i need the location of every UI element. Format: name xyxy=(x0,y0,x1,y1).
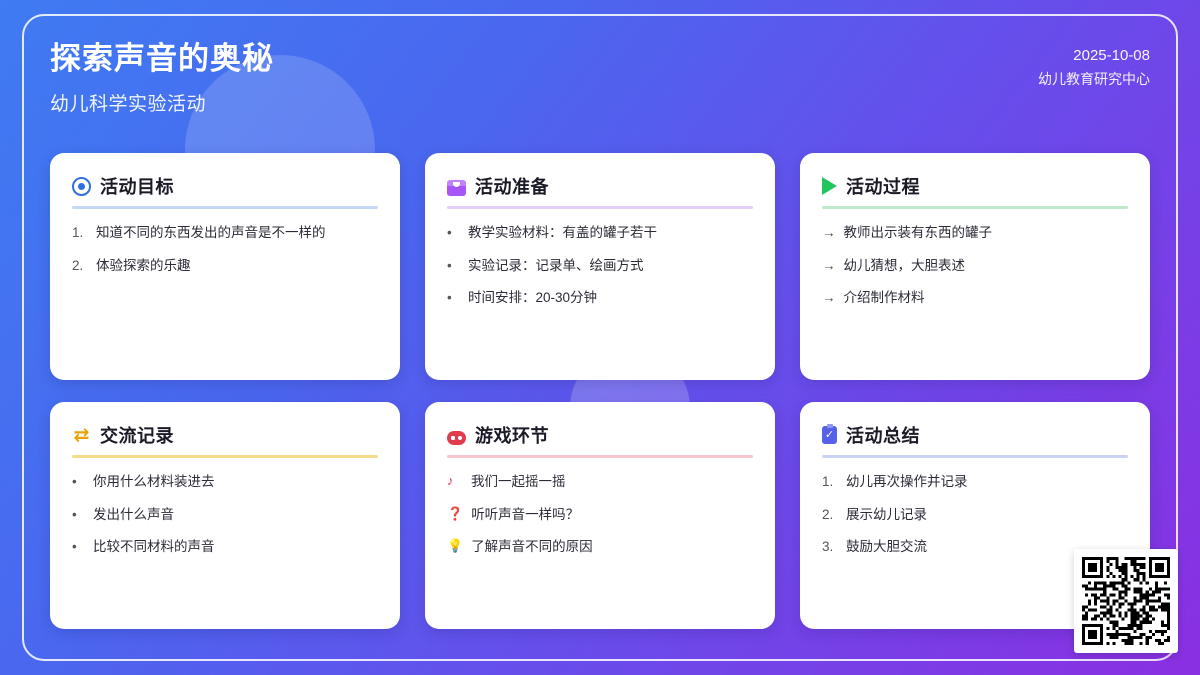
card-accent-rule xyxy=(72,206,378,209)
list-item: → 介绍制作材料 xyxy=(822,288,1128,308)
list-marker: → xyxy=(822,223,836,243)
list-marker: • xyxy=(72,505,85,525)
list-marker: → xyxy=(822,288,836,308)
card-accent-rule xyxy=(447,206,753,209)
card-body: ♪ 我们一起摇一摇 ❓ 听听声音一样吗？ 💡 了解声音不同的原因 xyxy=(447,472,753,557)
header-meta: 2025-10-08 幼儿教育研究中心 xyxy=(1038,44,1150,90)
exchange-icon: ⇄ xyxy=(72,426,91,445)
card-title: 活动目标 xyxy=(100,173,174,199)
list-item-text: 我们一起摇一摇 xyxy=(471,472,566,492)
card-accent-rule xyxy=(822,206,1128,209)
list-item-text: 了解声音不同的原因 xyxy=(471,537,593,557)
list-item-text: 幼儿猜想，大胆表述 xyxy=(844,256,966,276)
card-game-section[interactable]: 游戏环节 ♪ 我们一起摇一摇 ❓ 听听声音一样吗？ 💡 了解声音不同的原因 xyxy=(425,402,775,629)
list-item: • 实验记录：记录单、绘画方式 xyxy=(447,256,753,276)
gamepad-icon xyxy=(447,431,466,445)
list-item: 1. 知道不同的东西发出的声音是不一样的 xyxy=(72,223,378,243)
list-marker: 1. xyxy=(822,472,838,492)
list-item: • 时间安排：20-30分钟 xyxy=(447,288,753,308)
list-marker: 2. xyxy=(822,505,838,525)
list-item: ❓ 听听声音一样吗？ xyxy=(447,505,753,525)
list-item-text: 教师出示装有东西的罐子 xyxy=(844,223,993,243)
card-accent-rule xyxy=(447,455,753,458)
card-body: • 教学实验材料：有盖的罐子若干 • 实验记录：记录单、绘画方式 • 时间安排：… xyxy=(447,223,753,308)
list-item: 💡 了解声音不同的原因 xyxy=(447,537,753,557)
list-item-text: 你用什么材料装进去 xyxy=(93,472,215,492)
card-title: 游戏环节 xyxy=(475,422,549,448)
list-item: ♪ 我们一起摇一摇 xyxy=(447,472,753,492)
card-accent-rule xyxy=(822,455,1128,458)
list-marker: • xyxy=(72,472,85,492)
list-marker: 1. xyxy=(72,223,88,243)
card-activity-goals[interactable]: 活动目标 1. 知道不同的东西发出的声音是不一样的 2. 体验探索的乐趣 xyxy=(50,153,400,380)
list-item-text: 听听声音一样吗？ xyxy=(471,505,579,525)
header-organization: 幼儿教育研究中心 xyxy=(1038,68,1150,90)
lightbulb-icon: 💡 xyxy=(447,537,463,556)
package-icon xyxy=(447,181,466,196)
list-item-text: 发出什么声音 xyxy=(93,505,174,525)
card-header: ⇄ 交流记录 xyxy=(72,422,378,455)
list-item: 2. 展示幼儿记录 xyxy=(822,505,1128,525)
header-date: 2025-10-08 xyxy=(1038,44,1150,68)
list-marker: → xyxy=(822,256,836,276)
clipboard-check-icon xyxy=(822,426,837,444)
card-header: 活动过程 xyxy=(822,173,1128,206)
list-marker: • xyxy=(447,256,460,276)
list-item-text: 体验探索的乐趣 xyxy=(96,256,191,276)
card-header: 活动准备 xyxy=(447,173,753,206)
qr-code-container[interactable] xyxy=(1074,549,1178,653)
card-activity-process[interactable]: 活动过程 → 教师出示装有东西的罐子 → 幼儿猜想，大胆表述 → 介绍制作材料 xyxy=(800,153,1150,380)
list-item-text: 介绍制作材料 xyxy=(844,288,925,308)
list-marker: • xyxy=(447,223,460,243)
poster-header: 探索声音的奥秘 幼儿科学实验活动 2025-10-08 幼儿教育研究中心 xyxy=(50,40,1150,130)
card-header: 活动目标 xyxy=(72,173,378,206)
card-communication-record[interactable]: ⇄ 交流记录 • 你用什么材料装进去 • 发出什么声音 • 比较不同材料 xyxy=(50,402,400,629)
list-item: • 教学实验材料：有盖的罐子若干 xyxy=(447,223,753,243)
list-marker: 2. xyxy=(72,256,88,276)
list-item-text: 幼儿再次操作并记录 xyxy=(846,472,968,492)
card-title: 交流记录 xyxy=(100,422,174,448)
card-title: 活动准备 xyxy=(475,173,549,199)
question-mark-icon: ❓ xyxy=(447,505,463,524)
list-marker: 3. xyxy=(822,537,838,557)
list-item: → 教师出示装有东西的罐子 xyxy=(822,223,1128,243)
card-title: 活动总结 xyxy=(846,422,920,448)
card-accent-rule xyxy=(72,455,378,458)
card-body: 1. 幼儿再次操作并记录 2. 展示幼儿记录 3. 鼓励大胆交流 xyxy=(822,472,1128,557)
card-body: • 你用什么材料装进去 • 发出什么声音 • 比较不同材料的声音 xyxy=(72,472,378,557)
list-item: → 幼儿猜想，大胆表述 xyxy=(822,256,1128,276)
list-item-text: 知道不同的东西发出的声音是不一样的 xyxy=(96,223,326,243)
page-subtitle: 幼儿科学实验活动 xyxy=(50,89,1150,116)
card-body: → 教师出示装有东西的罐子 → 幼儿猜想，大胆表述 → 介绍制作材料 xyxy=(822,223,1128,308)
list-item-text: 比较不同材料的声音 xyxy=(93,537,215,557)
target-icon xyxy=(72,177,91,196)
list-item-text: 时间安排：20-30分钟 xyxy=(468,288,597,308)
list-marker: • xyxy=(72,537,85,557)
music-note-icon: ♪ xyxy=(447,472,463,491)
list-item: 2. 体验探索的乐趣 xyxy=(72,256,378,276)
list-item-text: 教学实验材料：有盖的罐子若干 xyxy=(468,223,657,243)
poster-canvas: 探索声音的奥秘 幼儿科学实验活动 2025-10-08 幼儿教育研究中心 活动目… xyxy=(0,0,1200,675)
card-grid: 活动目标 1. 知道不同的东西发出的声音是不一样的 2. 体验探索的乐趣 xyxy=(50,153,1150,629)
qr-code[interactable] xyxy=(1082,557,1170,645)
card-header: 游戏环节 xyxy=(447,422,753,455)
list-item: • 发出什么声音 xyxy=(72,505,378,525)
card-title: 活动过程 xyxy=(846,173,920,199)
list-item: 1. 幼儿再次操作并记录 xyxy=(822,472,1128,492)
play-icon xyxy=(822,177,837,195)
page-title: 探索声音的奥秘 xyxy=(50,40,1150,79)
list-marker: • xyxy=(447,288,460,308)
card-activity-preparation[interactable]: 活动准备 • 教学实验材料：有盖的罐子若干 • 实验记录：记录单、绘画方式 • … xyxy=(425,153,775,380)
list-item-text: 鼓励大胆交流 xyxy=(846,537,927,557)
card-body: 1. 知道不同的东西发出的声音是不一样的 2. 体验探索的乐趣 xyxy=(72,223,378,275)
list-item-text: 展示幼儿记录 xyxy=(846,505,927,525)
list-item: • 你用什么材料装进去 xyxy=(72,472,378,492)
list-item: • 比较不同材料的声音 xyxy=(72,537,378,557)
card-header: 活动总结 xyxy=(822,422,1128,455)
list-item-text: 实验记录：记录单、绘画方式 xyxy=(468,256,644,276)
